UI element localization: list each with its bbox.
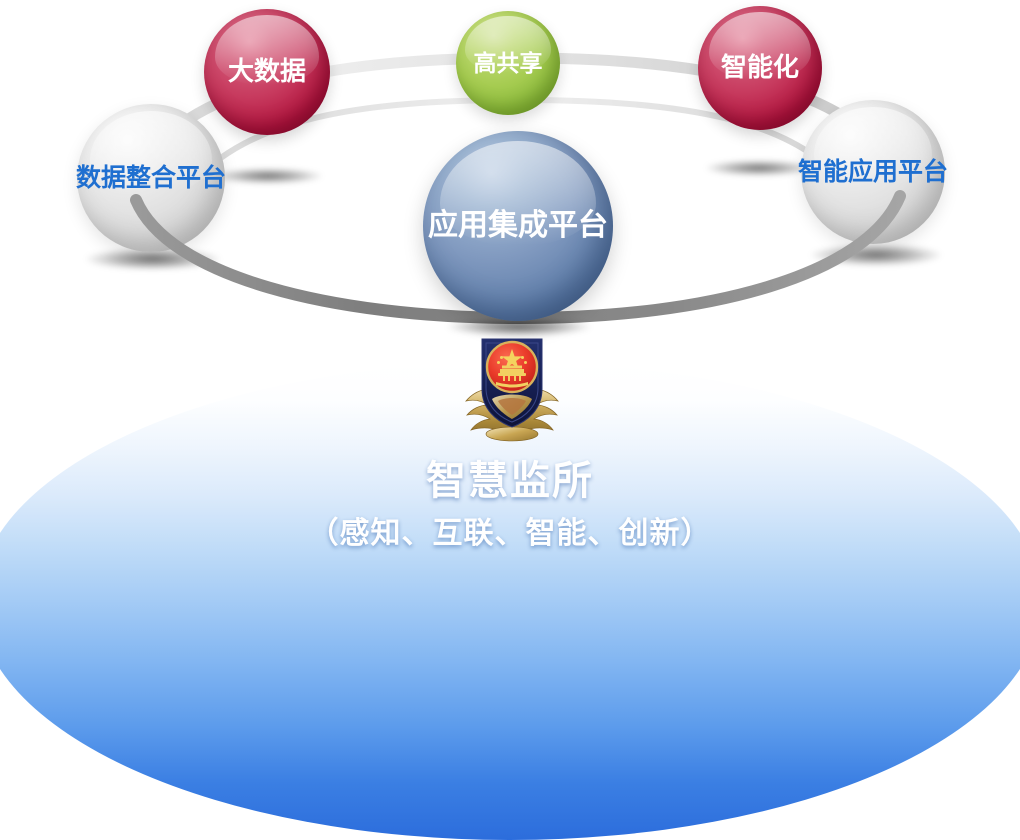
dome-title: 智慧监所	[0, 448, 1020, 506]
sphere-label: 大数据	[228, 58, 306, 85]
sphere-intelligentization[interactable]: 智能化	[698, 6, 822, 130]
sphere-smart-application[interactable]: 智能应用平台	[801, 100, 945, 244]
sphere-app-integration[interactable]: 应用集成平台	[423, 131, 613, 321]
china-police-badge-icon	[452, 327, 572, 445]
sphere-label: 高共享	[474, 51, 543, 75]
sphere-label: 应用集成平台	[428, 210, 608, 242]
sphere-high-sharing[interactable]: 高共享	[456, 11, 560, 115]
sphere-big-data-top[interactable]: 大数据	[204, 9, 330, 135]
sphere-shadow	[810, 244, 942, 266]
sphere-data-integration[interactable]: 数据整合平台	[77, 104, 225, 252]
sphere-label: 数据整合平台	[76, 165, 226, 191]
diagram-canvas: 数据整合平台 大数据 高共享 智能化 智能应用平台 应用集成平台	[0, 0, 1020, 768]
sphere-shadow	[213, 168, 323, 184]
dome-subtitle: （感知、互联、智能、创新）	[0, 508, 1020, 552]
sphere-label: 智能化	[721, 54, 799, 81]
sphere-label: 智能应用平台	[798, 159, 948, 185]
sphere-shadow	[705, 160, 813, 176]
dome-text-block: 智慧监所 （感知、互联、智能、创新）	[0, 448, 1020, 552]
